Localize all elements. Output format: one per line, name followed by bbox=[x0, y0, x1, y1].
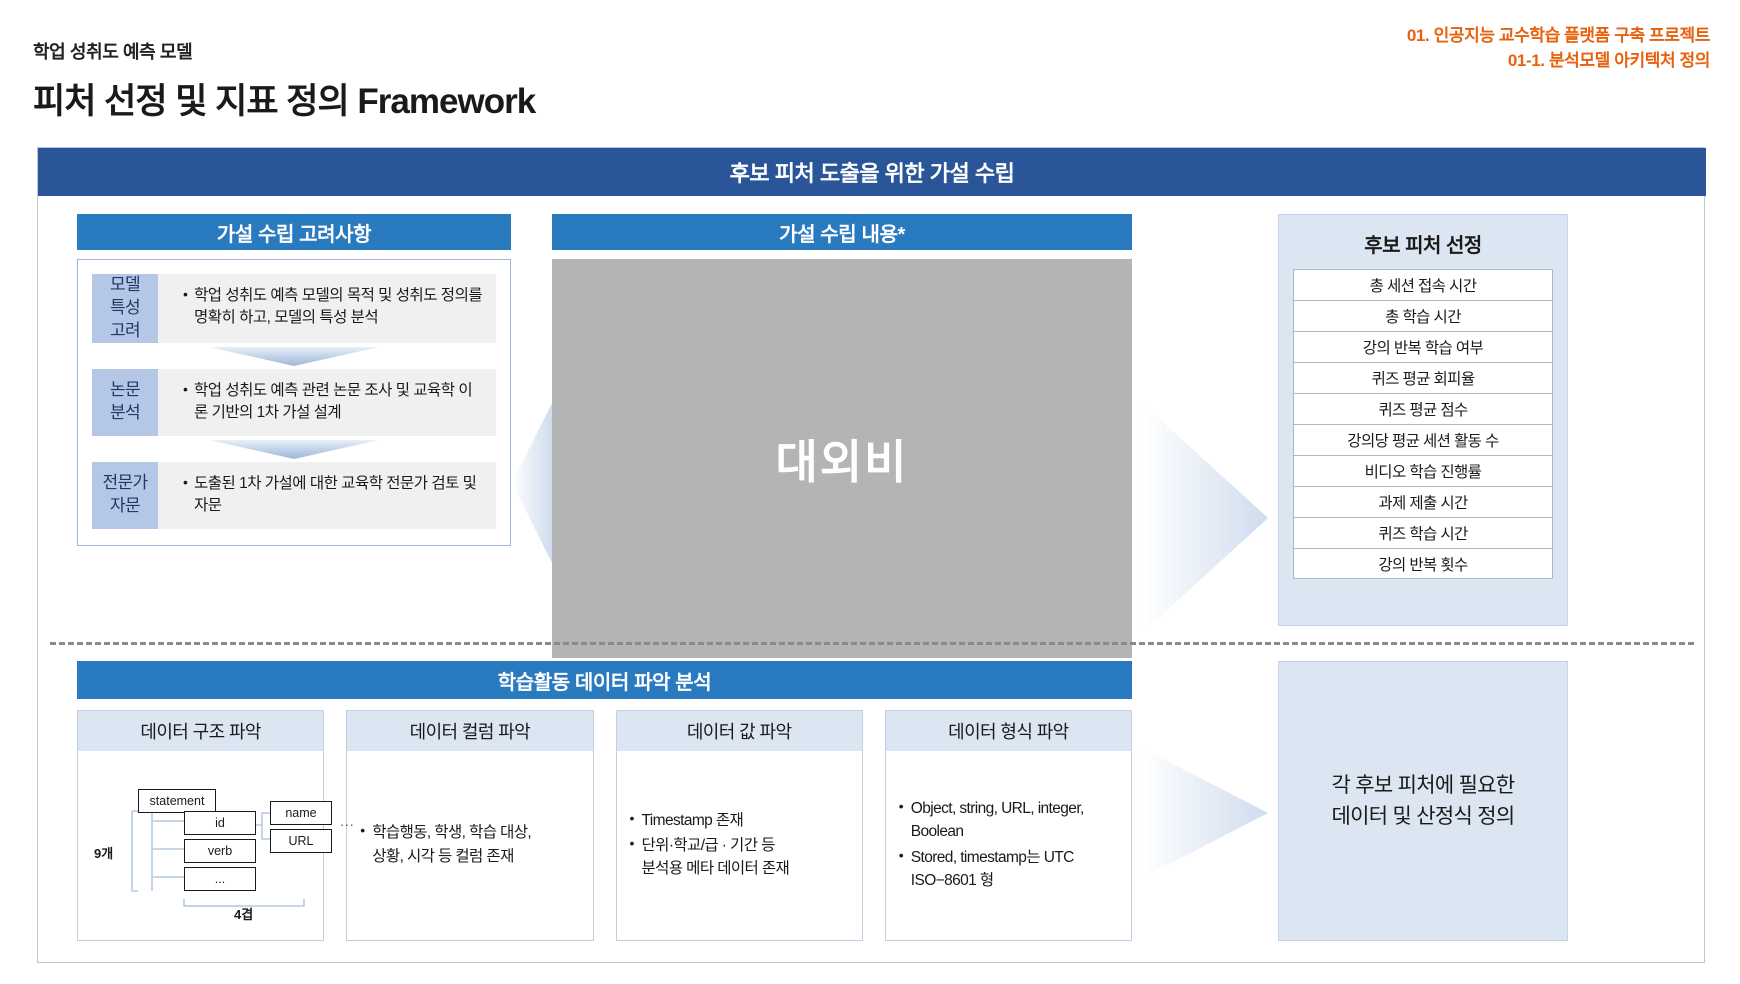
list-item[interactable]: 총 세션 접속 시간 bbox=[1293, 269, 1553, 300]
bullet-line: ISO−8601 형 bbox=[911, 869, 1084, 892]
bullet-line: 단위·학교/급 · 기간 등 bbox=[642, 837, 775, 854]
candidate-features-list: 총 세션 접속 시간 총 학습 시간 강의 반복 학습 여부 퀴즈 평균 회피율… bbox=[1293, 269, 1553, 579]
bullet-line: Stored, timestamp는 UTC bbox=[911, 849, 1074, 866]
candidate-features-panel: 후보 피처 선정 총 세션 접속 시간 총 학습 시간 강의 반복 학습 여부 … bbox=[1278, 214, 1568, 626]
data-analysis-cards: 데이터 구조 파악 bbox=[77, 710, 1132, 941]
summary-line-2: 데이터 및 산정식 정의 bbox=[1332, 801, 1515, 833]
tag-line: 특성 bbox=[110, 297, 140, 320]
bullet-item: 단위·학교/급 · 기간 등 분석용 메타 데이터 존재 bbox=[630, 834, 790, 881]
card-title: 데이터 컬럼 파악 bbox=[347, 711, 592, 751]
list-item[interactable]: 강의 반복 학습 여부 bbox=[1293, 331, 1553, 362]
list-item[interactable]: 퀴즈 평균 점수 bbox=[1293, 393, 1553, 424]
bullet-item: Stored, timestamp는 UTC ISO−8601 형 bbox=[899, 846, 1084, 893]
tag-line: 모델 bbox=[110, 274, 140, 297]
consideration-tag: 전문가 자문 bbox=[92, 462, 158, 529]
er-node-grandchild: URL bbox=[270, 829, 332, 853]
list-item[interactable]: 퀴즈 평균 회피율 bbox=[1293, 362, 1553, 393]
flow-chevron-1 bbox=[92, 343, 496, 369]
page-header-left: 학업 성취도 예측 모델 피처 선정 및 지표 정의 Framework bbox=[33, 38, 535, 124]
er-count-label: 9개 bbox=[94, 843, 113, 862]
content-frame: 후보 피처 도출을 위한 가설 수립 가설 수립 고려사항 모델 특성 고려 학… bbox=[37, 147, 1705, 963]
considerations-title: 가설 수립 고려사항 bbox=[77, 214, 511, 250]
card-body: statement id verb ... name URL ... 9개 4겹 bbox=[78, 751, 323, 940]
er-node-child: ... bbox=[184, 867, 256, 891]
bullet-item: Object, string, URL, integer, Boolean bbox=[899, 797, 1084, 844]
list-item[interactable]: 강의당 평균 세션 활동 수 bbox=[1293, 424, 1553, 455]
bullet-item: 도출된 1차 가설에 대한 교육학 전문가 검토 및 자문 bbox=[183, 473, 484, 518]
consideration-tag: 모델 특성 고려 bbox=[92, 274, 158, 343]
consideration-text: 도출된 1차 가설에 대한 교육학 전문가 검토 및 자문 bbox=[158, 462, 496, 529]
er-node-child: verb bbox=[184, 839, 256, 863]
bullet-item: 학업 성취도 예측 모델의 목적 및 성취도 정의를 명확히 하고, 모델의 특… bbox=[183, 285, 484, 330]
considerations-body: 모델 특성 고려 학업 성취도 예측 모델의 목적 및 성취도 정의를 명확히 … bbox=[77, 259, 511, 546]
consideration-tag: 논문 분석 bbox=[92, 369, 158, 436]
tag-line: 고려 bbox=[110, 320, 140, 343]
section-label: 01-1. 분석모델 아키텍처 정의 bbox=[1407, 49, 1710, 74]
bullet-line: 학습행동, 학생, 학습 대상, bbox=[372, 824, 531, 841]
bullet-line: Timestamp 존재 bbox=[642, 812, 744, 829]
tag-line: 전문가 bbox=[102, 472, 147, 495]
er-node-grandchild: name bbox=[270, 801, 332, 825]
bullet-item: 학습행동, 학생, 학습 대상, 상황, 시각 등 컬럼 존재 bbox=[360, 821, 531, 868]
card-data-columns: 데이터 컬럼 파악 학습행동, 학생, 학습 대상, 상황, 시각 등 컬럼 존… bbox=[346, 710, 593, 941]
card-title: 데이터 구조 파악 bbox=[78, 711, 323, 751]
section-divider bbox=[50, 642, 1694, 645]
flow-chevron-2 bbox=[92, 436, 496, 462]
er-node-child: id bbox=[184, 811, 256, 835]
tag-line: 분석 bbox=[110, 402, 140, 425]
list-item[interactable]: 강의 반복 횟수 bbox=[1293, 548, 1553, 579]
bullet-line: Boolean bbox=[911, 820, 1084, 843]
chevron-down-icon bbox=[209, 347, 379, 367]
summary-line-1: 각 후보 피처에 필요한 bbox=[1332, 770, 1515, 802]
hypothesis-considerations-panel: 가설 수립 고려사항 모델 특성 고려 학업 성취도 예측 모델의 목적 및 성… bbox=[77, 214, 511, 546]
header-eyebrow: 학업 성취도 예측 모델 bbox=[33, 38, 535, 64]
bottom-banner: 학습활동 데이터 파악 분석 bbox=[77, 661, 1132, 699]
redacted-content-box: 대외비 bbox=[552, 259, 1132, 658]
bullet-item: 학업 성취도 예측 관련 논문 조사 및 교육학 이론 기반의 1차 가설 설계 bbox=[183, 380, 484, 425]
hypothesis-content-title: 가설 수립 내용* bbox=[552, 214, 1132, 250]
bullet-line: Object, string, URL, integer, bbox=[911, 800, 1084, 817]
page-title: 피처 선정 및 지표 정의 Framework bbox=[33, 73, 535, 124]
consideration-text: 학업 성취도 예측 관련 논문 조사 및 교육학 이론 기반의 1차 가설 설계 bbox=[158, 369, 496, 436]
list-item[interactable]: 과제 제출 시간 bbox=[1293, 486, 1553, 517]
card-data-structure: 데이터 구조 파악 bbox=[77, 710, 324, 941]
er-diagram: statement id verb ... name URL ... 9개 4겹 bbox=[86, 773, 315, 918]
hypothesis-content-panel: 가설 수립 내용* 대외비 bbox=[552, 214, 1132, 658]
page-header-right: 01. 인공지능 교수학습 플랫폼 구축 프로젝트 01-1. 분석모델 아키텍… bbox=[1407, 24, 1710, 73]
list-item[interactable]: 비디오 학습 진행률 bbox=[1293, 455, 1553, 486]
project-label: 01. 인공지능 교수학습 플랫폼 구축 프로젝트 bbox=[1407, 24, 1710, 49]
consideration-row: 전문가 자문 도출된 1차 가설에 대한 교육학 전문가 검토 및 자문 bbox=[92, 462, 496, 529]
er-ellipsis: ... bbox=[340, 813, 355, 829]
card-title: 데이터 형식 파악 bbox=[886, 711, 1131, 751]
bullet-line: 분석용 메타 데이터 존재 bbox=[642, 857, 790, 880]
arrow-center-to-right-icon bbox=[1136, 403, 1276, 633]
summary-panel: 각 후보 피처에 필요한 데이터 및 산정식 정의 bbox=[1278, 661, 1568, 941]
bullet-item: Timestamp 존재 bbox=[630, 809, 790, 832]
list-item[interactable]: 퀴즈 학습 시간 bbox=[1293, 517, 1553, 548]
consideration-row: 논문 분석 학업 성취도 예측 관련 논문 조사 및 교육학 이론 기반의 1차… bbox=[92, 369, 496, 436]
redacted-label: 대외비 bbox=[776, 426, 909, 492]
card-body: 학습행동, 학생, 학습 대상, 상황, 시각 등 컬럼 존재 bbox=[347, 751, 592, 940]
er-node-root: statement bbox=[138, 789, 216, 813]
consideration-row: 모델 특성 고려 학업 성취도 예측 모델의 목적 및 성취도 정의를 명확히 … bbox=[92, 274, 496, 343]
arrow-left-to-center-icon bbox=[512, 403, 554, 563]
list-item[interactable]: 총 학습 시간 bbox=[1293, 300, 1553, 331]
card-data-formats: 데이터 형식 파악 Object, string, URL, integer, … bbox=[885, 710, 1132, 941]
card-body: Timestamp 존재 단위·학교/급 · 기간 등 분석용 메타 데이터 존… bbox=[617, 751, 862, 940]
tag-line: 논문 bbox=[110, 379, 140, 402]
card-title: 데이터 값 파악 bbox=[617, 711, 862, 751]
card-body: Object, string, URL, integer, Boolean St… bbox=[886, 751, 1131, 940]
bullet-line: 상황, 시각 등 컬럼 존재 bbox=[372, 845, 531, 868]
card-data-values: 데이터 값 파악 Timestamp 존재 단위·학교/급 · 기간 등 분석용… bbox=[616, 710, 863, 941]
chevron-down-icon bbox=[209, 440, 379, 460]
candidate-features-title: 후보 피처 선정 bbox=[1293, 224, 1553, 269]
tag-line: 자문 bbox=[110, 495, 140, 518]
top-banner: 후보 피처 도출을 위한 가설 수립 bbox=[38, 148, 1706, 196]
er-depth-label: 4겹 bbox=[234, 904, 253, 923]
arrow-bottom-to-summary-icon bbox=[1136, 748, 1276, 878]
consideration-text: 학업 성취도 예측 모델의 목적 및 성취도 정의를 명확히 하고, 모델의 특… bbox=[158, 274, 496, 343]
